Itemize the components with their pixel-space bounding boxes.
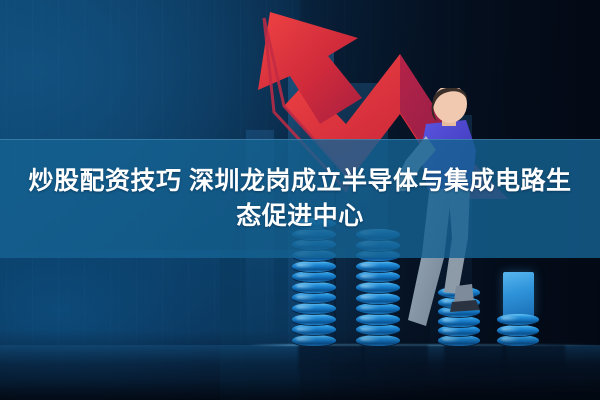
headline-line-1: 炒股配资技巧 深圳龙岗成立半导体与集成电路生 xyxy=(29,166,572,197)
coin xyxy=(356,314,400,325)
bottom-vignette xyxy=(0,330,600,400)
thumbnail-image: 炒股配资技巧 深圳龙岗成立半导体与集成电路生 态促进中心 xyxy=(0,0,600,400)
coin xyxy=(356,271,400,282)
blue-card-on-stack xyxy=(503,272,534,317)
coin xyxy=(292,271,336,282)
headline-line-2: 态促进中心 xyxy=(236,201,364,232)
coin xyxy=(356,261,400,272)
coin xyxy=(356,293,400,304)
coin xyxy=(292,303,336,314)
coin xyxy=(292,314,336,325)
coin xyxy=(292,292,336,303)
headline-container: 炒股配资技巧 深圳龙岗成立半导体与集成电路生 态促进中心 xyxy=(0,139,600,258)
coin xyxy=(356,303,400,314)
coin xyxy=(356,282,400,293)
coin xyxy=(292,282,336,293)
coin xyxy=(292,261,336,272)
